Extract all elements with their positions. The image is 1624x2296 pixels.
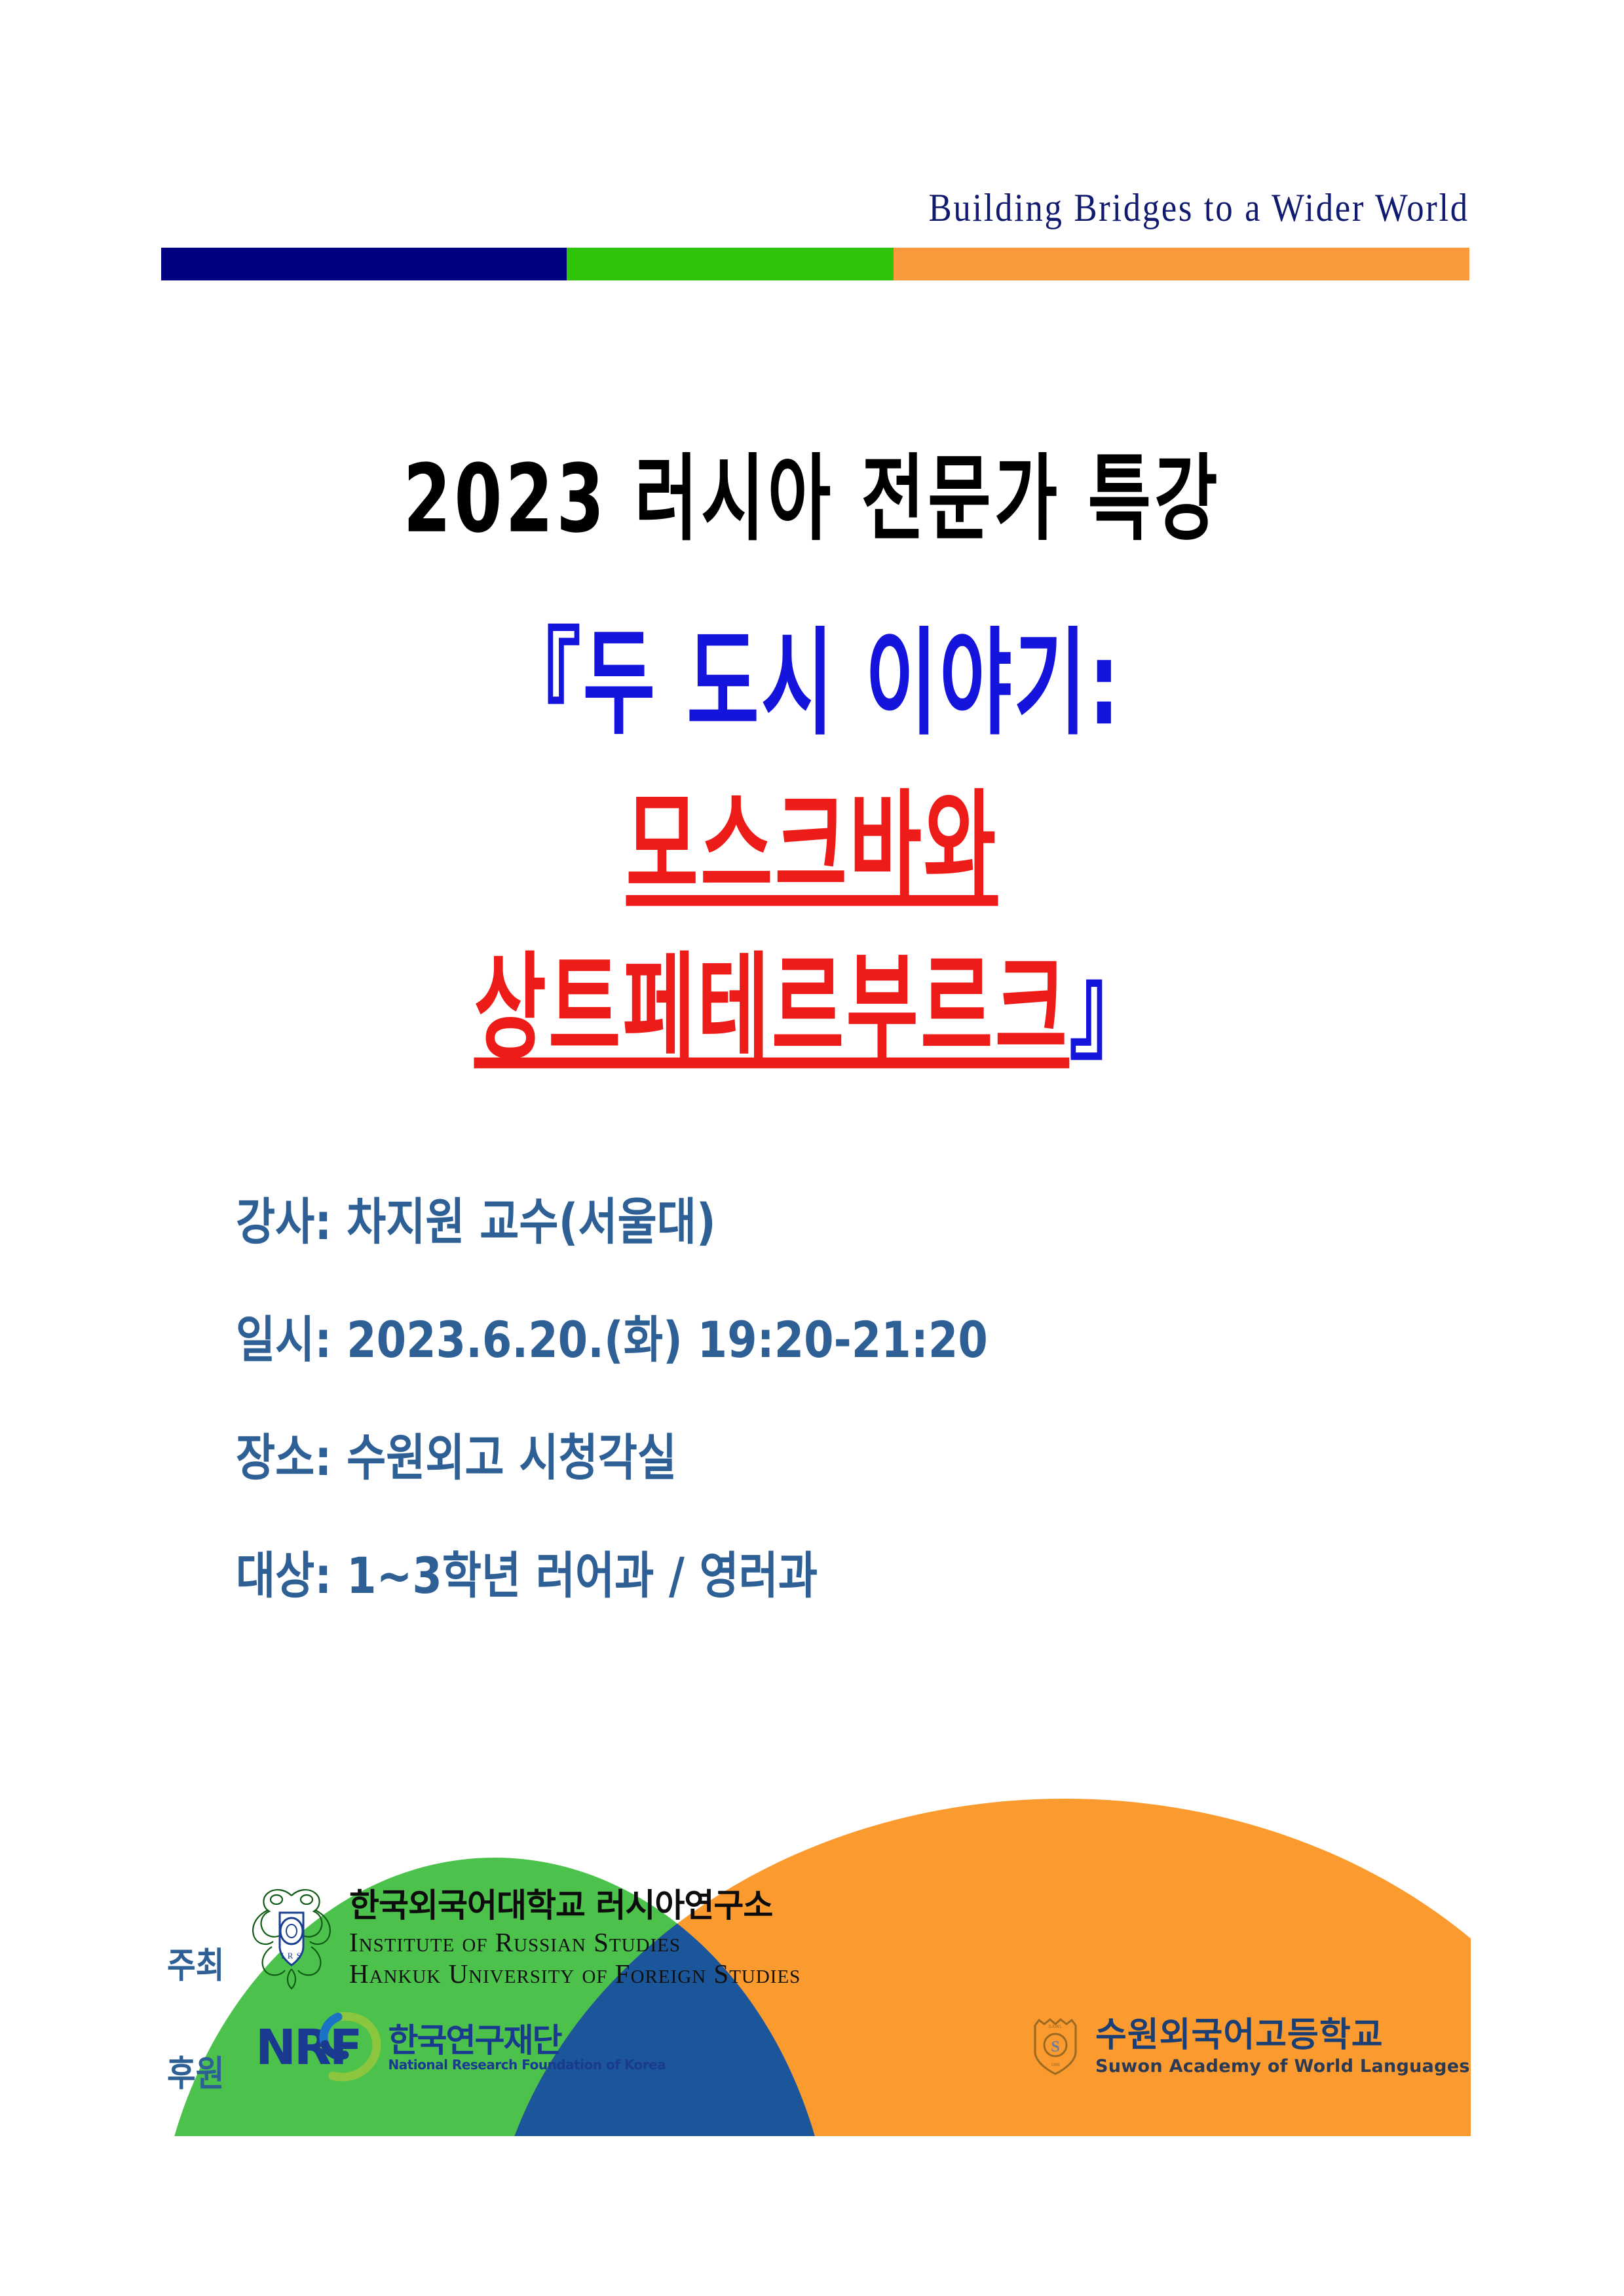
nrf-swoosh-icon <box>318 2012 381 2084</box>
venue-name-ko: 수원외국어고등학교 <box>1095 2017 1470 2054</box>
shield-bottom-text: 1996 <box>1051 2063 1060 2067</box>
organizer-name-block: 한국외국어대학교 러시아연구소 Institute of Russian Stu… <box>349 1887 801 1989</box>
page-title: 2023 러시아 전문가 특강 <box>146 423 1478 558</box>
subtitle-closing-bracket: 』 <box>1069 928 1150 1090</box>
color-bar-navy-segment <box>161 248 567 280</box>
color-bar-orange-segment <box>894 248 1469 280</box>
venue-name-block: 수원외국어고등학교 Suwon Academy of World Languag… <box>1095 2017 1470 2076</box>
host-label: 주최 <box>167 1936 224 1988</box>
sponsor-name-en: National Research Foundation of Korea <box>388 2058 666 2072</box>
organizer-name-en-line2: Hankuk University of Foreign Studies <box>349 1959 801 1989</box>
subtitle-line-3-wrap: 상트페테르부르크』 <box>162 928 1462 1090</box>
footer-graphic: 주최 후원 I R S <box>154 1704 1471 2136</box>
sponsor-logo: NRF 한국연구재단 National Research Foundation … <box>255 2012 666 2084</box>
event-details: 강사: 차지원 교수(서울대) 일시: 2023.6.20.(화) 19:20-… <box>236 1163 1350 1635</box>
sponsor-name-ko: 한국연구재단 <box>388 2023 666 2058</box>
header-tagline: Building Bridges to a Wider World <box>929 185 1469 231</box>
subtitle-line-1: 『두 도시 이야기: <box>162 603 1462 765</box>
double-eagle-crest-icon: I R S <box>246 1884 337 1992</box>
poster-header: Building Bridges to a Wider World <box>0 0 1624 301</box>
venue-logo: S SAWL 1996 수원외국어고등학교 Suwon Academy of W… <box>1029 2015 1470 2078</box>
detail-row-datetime: 일시: 2023.6.20.(화) 19:20-21:20 <box>236 1281 1194 1399</box>
subtitle-line-2: 모스크바와 <box>626 779 998 913</box>
poster-subtitle: 『두 도시 이야기: 모스크바와 상트페테르부르크』 <box>162 603 1462 1090</box>
detail-row-audience: 대상: 1~3학년 러어과 / 영러과 <box>236 1517 1194 1635</box>
detail-row-venue: 장소: 수원외고 시청각실 <box>236 1399 1194 1517</box>
detail-row-speaker: 강사: 차지원 교수(서울대) <box>236 1163 1194 1281</box>
header-color-bar <box>161 248 1469 280</box>
venue-name-en: Suwon Academy of World Languages <box>1095 2057 1470 2076</box>
organizer-name-ko: 한국외국어대학교 러시아연구소 <box>349 1887 801 1924</box>
school-shield-icon: S SAWL 1996 <box>1029 2015 1082 2078</box>
subtitle-line-3: 상트페테르부르크 <box>474 942 1069 1076</box>
organizer-name-en-line1: Institute of Russian Studies <box>349 1928 801 1958</box>
color-bar-green-segment <box>567 248 894 280</box>
organizer-logo: I R S 한국외국어대학교 러시아연구소 Institute of Russi… <box>246 1884 801 1992</box>
subtitle-line-2-wrap: 모스크바와 <box>162 765 1462 928</box>
crest-initials: I R S <box>281 1951 302 1961</box>
shield-initial: S <box>1051 2038 1059 2056</box>
sponsor-name-block: 한국연구재단 National Research Foundation of K… <box>388 2023 666 2072</box>
poster-page: Building Bridges to a Wider World 2023 러… <box>0 0 1624 2296</box>
sponsor-label: 후원 <box>167 2044 224 2096</box>
shield-top-text: SAWL <box>1048 2025 1063 2029</box>
